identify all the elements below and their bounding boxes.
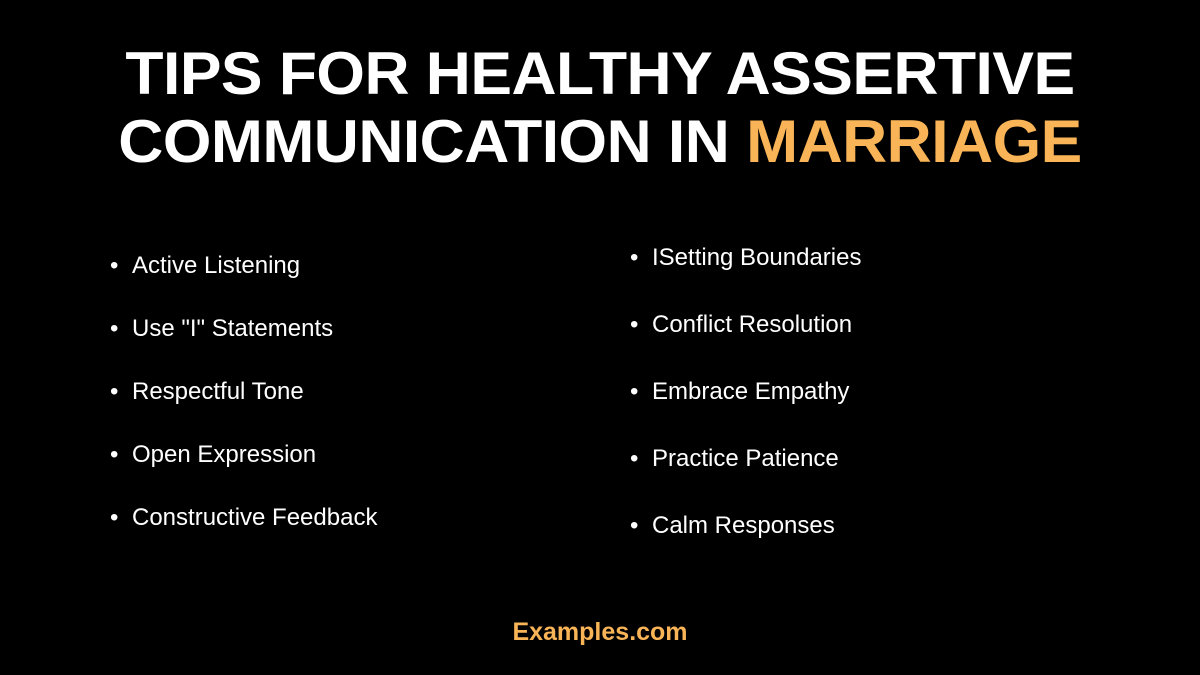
bullet-icon [110, 380, 132, 404]
list-item-label: Open Expression [132, 440, 630, 470]
title-line-2: COMMUNICATION IN MARRIAGE [38, 108, 1161, 176]
bullet-icon [110, 254, 132, 278]
bullet-icon [630, 514, 652, 538]
list-item-label: ISetting Boundaries [652, 243, 1070, 273]
list-item-label: Calm Responses [652, 511, 1070, 541]
bullet-icon [630, 447, 652, 471]
page-title: TIPS FOR HEALTHY ASSERTIVE COMMUNICATION… [0, 40, 1200, 176]
tips-columns: Active Listening Use "I" Statements Resp… [110, 243, 1090, 578]
list-item: Embrace Empathy [630, 377, 1070, 444]
list-item-label: Use "I" Statements [132, 314, 630, 344]
list-item-label: Conflict Resolution [652, 310, 1070, 340]
bullet-icon [630, 246, 652, 270]
bullet-icon [630, 313, 652, 337]
list-item: Practice Patience [630, 444, 1070, 511]
bullet-icon [110, 317, 132, 341]
list-item-label: Respectful Tone [132, 377, 630, 407]
footer: Examples.com [0, 618, 1200, 647]
bullet-icon [110, 443, 132, 467]
bullet-icon [630, 380, 652, 404]
list-item-label: Embrace Empathy [652, 377, 1070, 407]
brand-logo-text[interactable]: Examples.com [512, 618, 687, 646]
list-item: ISetting Boundaries [630, 243, 1070, 310]
list-item: Respectful Tone [110, 377, 630, 440]
list-item: Conflict Resolution [630, 310, 1070, 377]
list-item: Open Expression [110, 440, 630, 503]
list-item-label: Active Listening [132, 251, 630, 281]
list-item: Active Listening [110, 251, 630, 314]
list-item: Use "I" Statements [110, 314, 630, 377]
tips-column-left: Active Listening Use "I" Statements Resp… [110, 243, 630, 566]
bullet-icon [110, 506, 132, 530]
title-line-1: TIPS FOR HEALTHY ASSERTIVE [38, 40, 1161, 108]
list-item-label: Practice Patience [652, 444, 1070, 474]
list-item-label: Constructive Feedback [132, 503, 630, 533]
infographic-canvas: TIPS FOR HEALTHY ASSERTIVE COMMUNICATION… [0, 0, 1200, 675]
tips-column-right: ISetting Boundaries Conflict Resolution … [630, 243, 1070, 578]
list-item: Calm Responses [630, 511, 1070, 578]
title-keyword-marriage: MARRIAGE [746, 108, 1082, 175]
list-item: Constructive Feedback [110, 503, 630, 566]
title-line-2-prefix: COMMUNICATION IN [118, 108, 746, 175]
